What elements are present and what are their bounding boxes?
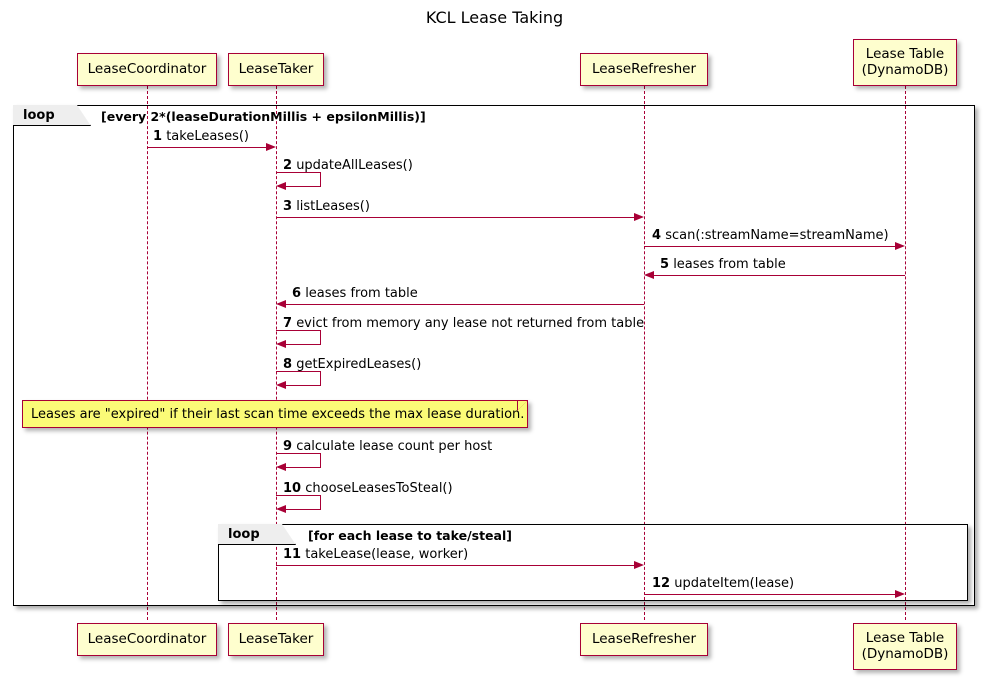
participant-lease-taker-top[interactable]: LeaseTaker [228,53,324,86]
frame-inner-loop-kind: loop [228,527,260,542]
message-6-label: 6 leases from table [292,287,418,300]
message-4-label: 4 scan(:streamName=streamName) [652,229,889,242]
message-10-self-top [276,495,321,496]
message-2-self-bottom [286,186,321,187]
message-7-text: evict from memory any lease not returned… [296,316,644,331]
message-5-line [652,275,905,276]
message-10-text: chooseLeasesToSteal() [305,481,452,496]
message-8-number: 8 [283,357,292,372]
participant-lease-coordinator-bottom[interactable]: LeaseCoordinator [77,623,217,656]
participant-lease-table-top[interactable]: Lease Table (DynamoDB) [853,39,957,86]
message-12-number: 12 [652,576,670,591]
message-11-line [276,565,637,566]
message-12-line [644,594,898,595]
message-11-text: takeLease(lease, worker) [305,547,468,562]
message-7-arrowhead [276,340,286,348]
message-6-text: leases from table [305,286,418,301]
message-2-label: 2 updateAllLeases() [283,159,413,172]
message-10-number: 10 [283,481,301,496]
message-9-label: 9 calculate lease count per host [283,440,492,453]
frame-inner-loop-condition: [for each lease to take/steal] [308,528,512,543]
participant-label: LeaseCoordinator [82,62,213,78]
note-expired-leases: Leases are "expired" if their last scan … [22,400,528,428]
message-9-self-bottom [286,467,321,468]
message-2-arrowhead [276,182,286,190]
message-6-number: 6 [292,286,301,301]
message-7-label: 7 evict from memory any lease not return… [283,317,644,330]
message-12-label: 12 updateItem(lease) [652,577,794,590]
note-fold-corner-inner [518,401,527,410]
message-1-arrowhead [266,143,276,151]
message-2-self-right [320,172,321,186]
message-8-text: getExpiredLeases() [296,357,421,372]
message-5-number: 5 [660,257,669,272]
participant-label: Lease Table [860,47,950,63]
message-10-arrowhead [276,505,286,513]
message-4-arrowhead [895,242,905,250]
message-10-self-bottom [286,509,321,510]
message-7-self-bottom [286,344,321,345]
participant-lease-table-bottom[interactable]: Lease Table (DynamoDB) [853,623,957,670]
message-11-number: 11 [283,547,301,562]
sequence-diagram-canvas: KCL Lease Taking LeaseCoordinator LeaseT… [0,0,989,681]
message-3-label: 3 listLeases() [283,200,370,213]
message-9-number: 9 [283,439,292,454]
participant-label: LeaseTaker [233,62,320,78]
message-3-number: 3 [283,199,292,214]
message-9-arrowhead [276,463,286,471]
message-6-line [284,304,644,305]
message-8-self-top [276,371,321,372]
message-4-line [644,246,898,247]
message-4-text: scan(:streamName=streamName) [665,228,888,243]
message-1-line [147,147,269,148]
frame-outer-loop-condition: [every 2*(leaseDurationMillis + epsilonM… [101,109,426,124]
participant-label-line2: (DynamoDB) [856,647,955,663]
message-10-label: 10 chooseLeasesToSteal() [283,482,453,495]
note-text: Leases are "expired" if their last scan … [31,407,524,422]
message-8-self-bottom [286,385,321,386]
participant-label-line2: (DynamoDB) [856,63,955,79]
participant-lease-refresher-top[interactable]: LeaseRefresher [580,53,708,86]
participant-label: LeaseRefresher [586,632,702,648]
message-12-arrowhead [895,590,905,598]
participant-lease-refresher-bottom[interactable]: LeaseRefresher [580,623,708,656]
message-2-text: updateAllLeases() [296,158,413,173]
frame-outer-loop-kind: loop [23,108,55,123]
message-5-arrowhead [644,271,654,279]
message-10-self-right [320,495,321,509]
participant-label: LeaseTaker [233,632,320,648]
message-9-text: calculate lease count per host [296,439,492,454]
message-2-number: 2 [283,158,292,173]
message-1-text: takeLeases() [166,129,249,144]
message-5-label: 5 leases from table [660,258,786,271]
message-11-arrowhead [634,561,644,569]
participant-label: LeaseRefresher [586,62,702,78]
message-8-arrowhead [276,381,286,389]
participant-lease-taker-bottom[interactable]: LeaseTaker [228,623,324,656]
message-11-label: 11 takeLease(lease, worker) [283,548,468,561]
message-6-arrowhead [276,300,286,308]
participant-lease-coordinator-top[interactable]: LeaseCoordinator [77,53,217,86]
message-4-number: 4 [652,228,661,243]
message-1-label: 1 takeLeases() [153,130,249,143]
message-7-self-right [320,330,321,344]
message-9-self-right [320,453,321,467]
message-3-line [276,217,637,218]
message-3-arrowhead [634,213,644,221]
message-8-self-right [320,371,321,385]
message-7-self-top [276,330,321,331]
message-3-text: listLeases() [296,199,370,214]
diagram-title: KCL Lease Taking [0,8,989,27]
message-12-text: updateItem(lease) [674,576,794,591]
message-2-self-top [276,172,321,173]
message-5-text: leases from table [673,257,786,272]
message-9-self-top [276,453,321,454]
participant-label: Lease Table [860,631,950,647]
message-8-label: 8 getExpiredLeases() [283,358,421,371]
message-1-number: 1 [153,129,162,144]
participant-label: LeaseCoordinator [82,632,213,648]
message-7-number: 7 [283,316,292,331]
